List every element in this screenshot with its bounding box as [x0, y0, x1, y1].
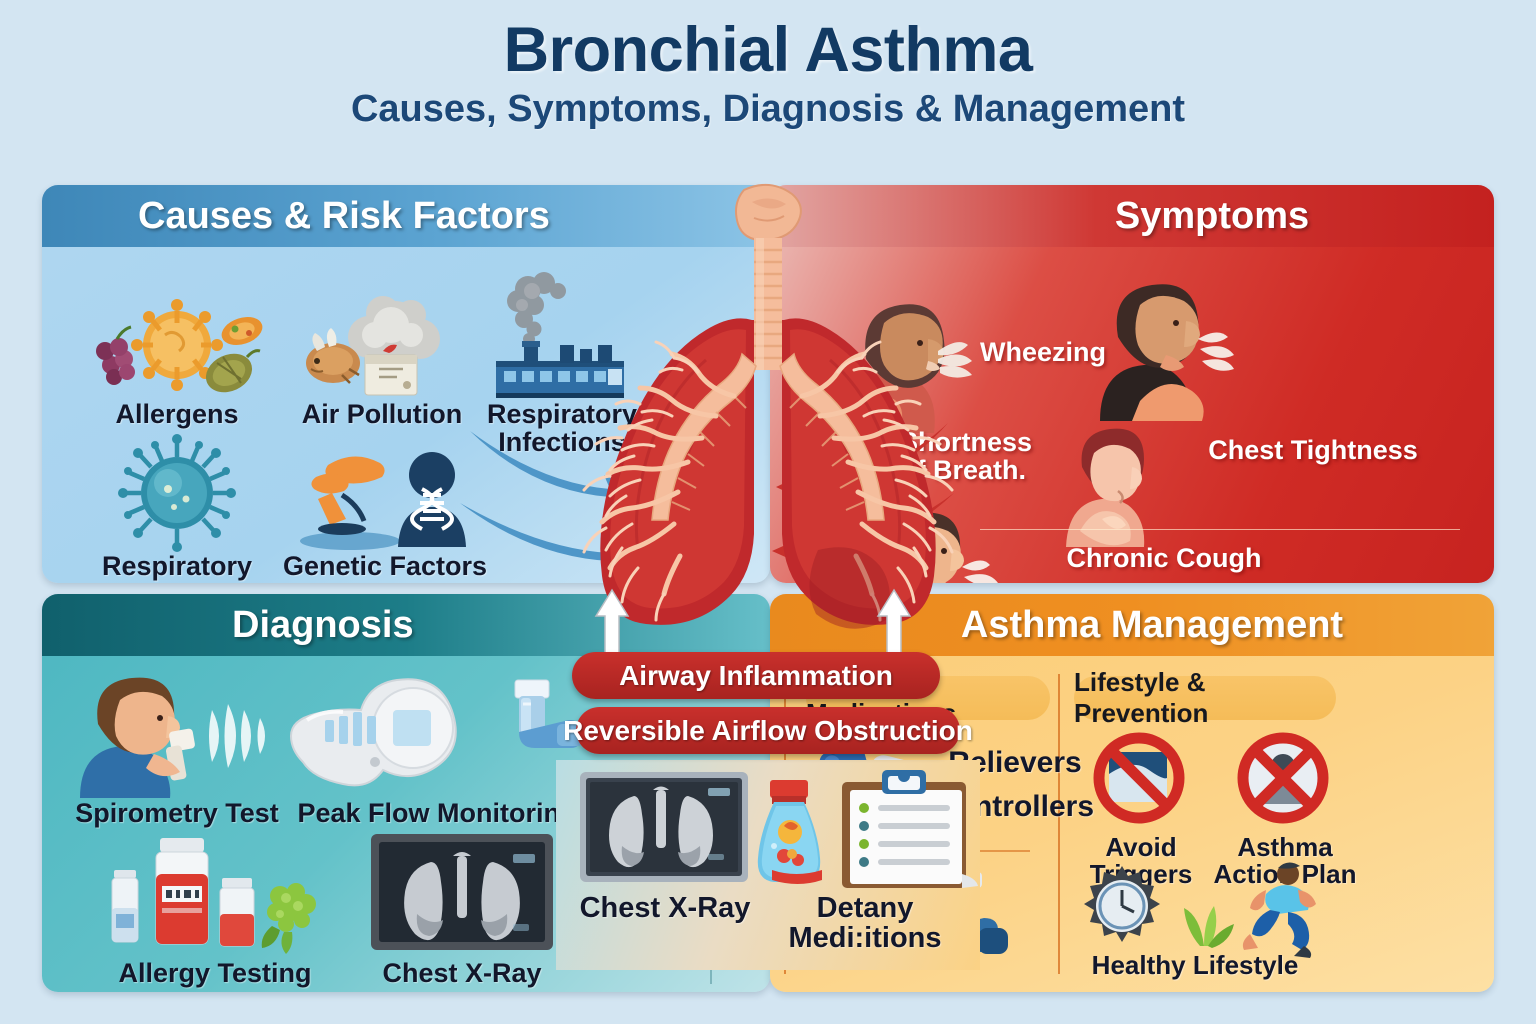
person-breathless-icon: [1070, 261, 1260, 441]
center-item-label: Detany Medi:itions: [752, 894, 978, 953]
infographic-canvas: Bronchial Asthma Causes, Symptoms, Diagn…: [0, 0, 1536, 1024]
diagnosis-label: Spirometry Test: [62, 800, 292, 828]
no-dust-mite-icon: [1066, 726, 1216, 834]
symptom-label: Chest Tightness: [1168, 437, 1458, 465]
symptoms-divider: [980, 529, 1460, 530]
page-title: Bronchial Asthma: [0, 14, 1536, 86]
management-group-title-lifestyle: Lifestyle & Prevention: [1074, 676, 1336, 720]
management-group-divider: [1058, 674, 1060, 974]
cause-item-air-pollution[interactable]: Air Pollution: [282, 289, 482, 429]
lungs-anatomy-icon: [556, 180, 980, 660]
center-item-daily-medications[interactable]: Detany Medi:itions: [752, 766, 978, 953]
cause-label: Respiratory Infections: [77, 553, 277, 583]
diagnosis-label: Peak Flow Monitoring: [272, 800, 602, 828]
title-block: Bronchial Asthma Causes, Symptoms, Diagn…: [0, 14, 1536, 131]
medicine-clipboard-icon: [752, 766, 978, 894]
no-smoking-person-icon: [1200, 726, 1370, 834]
peak-flow-meter-icon: [272, 672, 602, 800]
badge-text: Airway Inflammation: [619, 660, 893, 692]
test-vials-pollen-icon: [90, 828, 340, 960]
chest-xray-icon: [342, 828, 582, 960]
diagnosis-item-chest-xray[interactable]: Chest X-Ray: [342, 828, 582, 988]
center-bottom-items: Chest X-Ray: [556, 760, 980, 970]
cause-item-respiratory-infections-bottom[interactable]: Respiratory Infections: [77, 433, 277, 583]
badge-airway-inflammation[interactable]: Airway Inflammation: [572, 652, 940, 699]
diagnosis-item-allergy-testing[interactable]: Allergy Testing: [90, 828, 340, 988]
center-item-label: Chest X-Ray: [570, 894, 760, 924]
diagnosis-item-spirometry[interactable]: Spirometry Test: [62, 672, 292, 828]
cause-item-allergens[interactable]: Allergens: [72, 289, 282, 429]
badge-text: Reversible Airflow Obstruction: [563, 715, 973, 747]
clock-gear-runner-icon: [1070, 858, 1340, 958]
management-item-healthy-lifestyle[interactable]: Healthy Lifestyle: [1050, 952, 1340, 979]
page-subtitle: Causes, Symptoms, Diagnosis & Management: [0, 88, 1536, 131]
management-label: Healthy Lifestyle: [1050, 952, 1340, 979]
diagnosis-label: Chest X-Ray: [342, 960, 582, 988]
xray-viewer-icon: [570, 766, 760, 894]
center-item-chest-xray[interactable]: Chest X-Ray: [570, 766, 760, 924]
cause-label: Air Pollution: [282, 401, 482, 429]
air-pollution-icon: [282, 289, 482, 401]
symptom-item-chronic-cough[interactable]: Chronic Cough: [1004, 545, 1324, 573]
badge-reversible-airflow-obstruction[interactable]: Reversible Airflow Obstruction: [576, 707, 960, 754]
diagnosis-item-peak-flow[interactable]: Peak Flow Monitoring: [272, 672, 602, 828]
symptom-item-chest-tightness[interactable]: Chest Tightness: [1168, 437, 1458, 465]
virus-icon: [77, 433, 277, 553]
allergens-icon: [72, 289, 282, 401]
symptom-label: Chronic Cough: [1004, 545, 1324, 573]
group-title-text: Lifestyle & Prevention: [1074, 667, 1336, 729]
spirometer-person-icon: [62, 672, 292, 800]
cause-label: Allergens: [72, 401, 282, 429]
diagnosis-label: Allergy Testing: [90, 960, 340, 988]
